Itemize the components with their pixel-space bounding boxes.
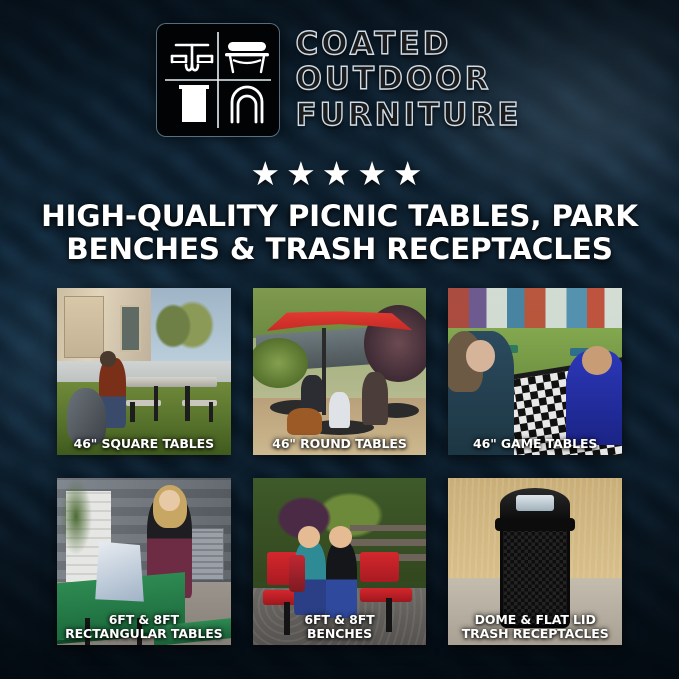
product-tile-trash-receptacles[interactable]: DOME & FLAT LID TRASH RECEPTACLES (448, 478, 622, 645)
caption-line-1: DOME & FLAT LID (448, 613, 622, 627)
caption-line-1: 46" SQUARE TABLES (57, 437, 231, 451)
brand-logo: COATED OUTDOOR FURNITURE (0, 24, 679, 136)
trash-receptacle-icon (179, 85, 209, 122)
product-caption: 46" ROUND TABLES (253, 437, 427, 451)
wordmark-line-outdoor: OUTDOOR (295, 63, 521, 96)
product-caption: 46" GAME TABLES (448, 437, 622, 451)
caption-line-2: RECTANGULAR TABLES (57, 627, 231, 641)
logo-grid-icon (162, 29, 274, 131)
product-caption: 6FT & 8FT BENCHES (253, 613, 427, 640)
caption-line-1: 46" GAME TABLES (448, 437, 622, 451)
product-caption: 46" SQUARE TABLES (57, 437, 231, 451)
product-caption: 6FT & 8FT RECTANGULAR TABLES (57, 613, 231, 640)
square-tables-photo (57, 288, 231, 455)
product-tile-game-tables[interactable]: 46" GAME TABLES (448, 288, 622, 455)
star-rating: ★★★★★ (0, 157, 679, 190)
wordmark-line-coated: COATED (295, 28, 521, 61)
headline-line-1: HIGH-QUALITY PICNIC TABLES, PARK (34, 200, 645, 233)
product-tile-rectangular-tables[interactable]: 6FT & 8FT RECTANGULAR TABLES (57, 478, 231, 645)
caption-line-1: 6FT & 8FT (57, 613, 231, 627)
caption-line-2: TRASH RECEPTACLES (448, 627, 622, 641)
product-tile-benches[interactable]: 6FT & 8FT BENCHES (253, 478, 427, 645)
product-tile-square-tables[interactable]: 46" SQUARE TABLES (57, 288, 231, 455)
game-tables-photo (448, 288, 622, 455)
product-grid: 46" SQUARE TABLES (57, 288, 622, 645)
product-caption: DOME & FLAT LID TRASH RECEPTACLES (448, 613, 622, 640)
caption-line-2: BENCHES (253, 627, 427, 641)
brand-wordmark: COATED OUTDOOR FURNITURE (295, 28, 521, 132)
logo-mark-icon (157, 24, 279, 136)
round-tables-photo (253, 288, 427, 455)
caption-line-1: 6FT & 8FT (253, 613, 427, 627)
promo-banner: COATED OUTDOOR FURNITURE ★★★★★ HIGH-QUAL… (0, 0, 679, 679)
headline: HIGH-QUALITY PICNIC TABLES, PARK BENCHES… (34, 200, 645, 267)
caption-line-1: 46" ROUND TABLES (253, 437, 427, 451)
wordmark-line-furniture: FURNITURE (295, 99, 521, 132)
headline-line-2: BENCHES & TRASH RECEPTACLES (34, 233, 645, 266)
product-tile-round-tables[interactable]: 46" ROUND TABLES (253, 288, 427, 455)
